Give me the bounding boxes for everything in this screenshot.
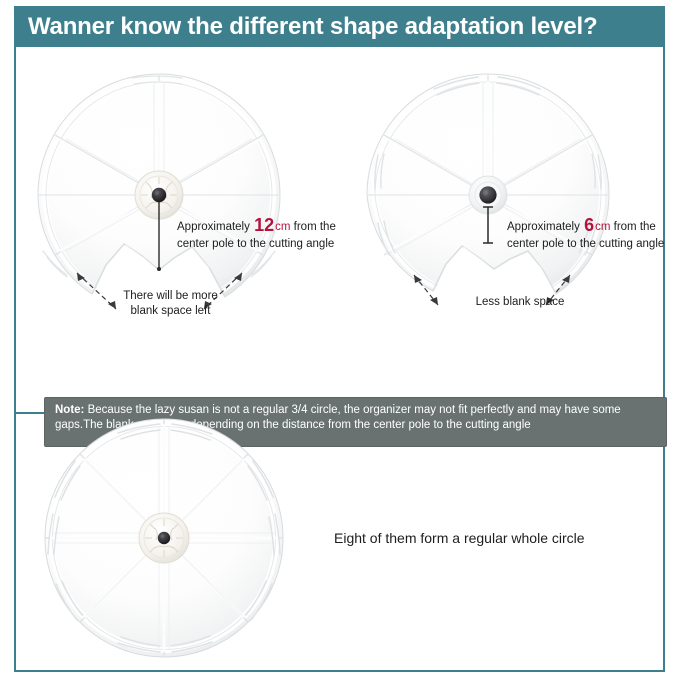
center-hub-full-circle <box>139 513 189 563</box>
blank-space-caption-6cm: Less blank space <box>445 295 595 310</box>
callout-line2: center pole to the cutting angle <box>507 237 664 252</box>
callout-value: 6 <box>583 215 595 235</box>
callout-line2: center pole to the cutting angle <box>177 237 336 252</box>
callout-prefix: Approximately <box>177 221 250 233</box>
panel-6cm: Approximately 6cm from the center pole t… <box>340 49 663 349</box>
callout-unit: cm <box>595 221 610 233</box>
caption-line-1: Less blank space <box>445 295 595 310</box>
callout-value: 12 <box>253 215 275 235</box>
lazy-susan-organizer-6cm <box>338 51 668 321</box>
page-title: Wanner know the different shape adaptati… <box>14 13 597 41</box>
callout-suffix: from the <box>294 221 336 233</box>
whole-circle-caption: Eight of them form a regular whole circl… <box>334 530 585 546</box>
callout-unit: cm <box>275 221 290 233</box>
lazy-susan-full-circle <box>26 414 326 670</box>
caption-line-2: blank space left <box>88 304 253 319</box>
blank-space-caption-12cm: There will be more blank space left <box>88 289 253 319</box>
measurement-callout-12cm: Approximately 12cm from the center pole … <box>177 214 336 252</box>
measurement-callout-6cm: Approximately 6cm from the center pole t… <box>507 214 664 252</box>
infographic-page: Wanner know the different shape adaptati… <box>0 0 679 678</box>
lazy-susan-organizer-12cm <box>14 51 344 321</box>
whole-circle-section: Eight of them form a regular whole circl… <box>16 414 663 670</box>
callout-prefix: Approximately <box>507 221 580 233</box>
header-banner: Wanner know the different shape adaptati… <box>14 6 665 47</box>
comparison-section: Approximately 12cm from the center pole … <box>16 49 663 412</box>
panel-12cm: Approximately 12cm from the center pole … <box>16 49 339 349</box>
caption-line-1: There will be more <box>88 289 253 304</box>
callout-suffix: from the <box>614 221 656 233</box>
